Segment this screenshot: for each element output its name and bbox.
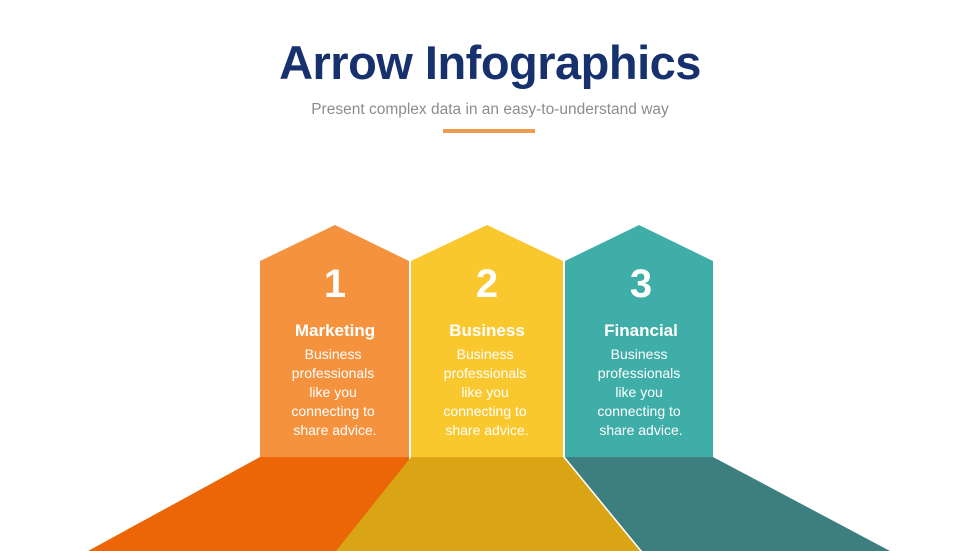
arrow-number-1: 1 xyxy=(324,262,346,306)
arrow-item-1[interactable]: 1 Marketing Business professionals like … xyxy=(260,225,409,457)
arrow-body-1-line-1: Business xyxy=(305,346,362,362)
floor-group xyxy=(88,457,890,551)
arrow-item-2[interactable]: 2 Business Business professionals like y… xyxy=(411,225,563,457)
arrow-body-3-line-2: professionals xyxy=(598,365,681,381)
arrow-body-2-line-5: share advice. xyxy=(445,422,528,438)
arrow-body-2-line-4: connecting to xyxy=(443,403,526,419)
arrow-body-2-line-2: professionals xyxy=(444,365,527,381)
slide-canvas: Arrow Infographics Present complex data … xyxy=(0,0,980,551)
arrow-body-1-line-2: professionals xyxy=(292,365,375,381)
arrow-body-1-line-4: connecting to xyxy=(291,403,374,419)
arrow-title-3: Financial xyxy=(604,321,678,340)
arrow-body-2-line-3: like you xyxy=(461,384,508,400)
arrow-body-1-line-3: like you xyxy=(309,384,356,400)
arrow-number-3: 3 xyxy=(630,262,652,306)
arrow-body-3-line-4: connecting to xyxy=(597,403,680,419)
arrow-infographic: 1 Marketing Business professionals like … xyxy=(0,0,980,551)
arrow-body-3-line-1: Business xyxy=(611,346,668,362)
arrow-item-3[interactable]: 3 Financial Business professionals like … xyxy=(565,225,713,457)
arrow-body-2-line-1: Business xyxy=(457,346,514,362)
arrow-title-2: Business xyxy=(449,321,525,340)
arrow-number-2: 2 xyxy=(476,262,498,306)
arrow-title-1: Marketing xyxy=(295,321,375,340)
arrow-body-1-line-5: share advice. xyxy=(293,422,376,438)
arrow-body-3-line-5: share advice. xyxy=(599,422,682,438)
arrow-body-3-line-3: like you xyxy=(615,384,662,400)
